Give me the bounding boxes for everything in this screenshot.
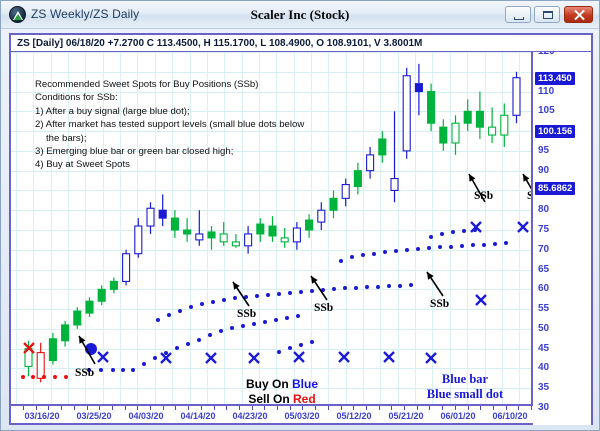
candlestick [306,214,313,238]
resistance-dot [42,375,46,379]
candlestick [452,115,459,155]
support-dot [111,368,115,372]
candlestick [476,92,483,139]
candlestick [49,333,56,365]
candle-body [220,234,227,242]
price-axis-label: 60 [538,283,549,294]
candle-body [86,301,93,313]
support-dot [383,250,387,254]
candlestick [184,218,191,242]
support-dot [222,298,226,302]
date-tick [48,406,49,410]
candle-body [281,238,288,242]
date-tick [366,406,367,410]
candlestick [318,202,325,230]
date-tick [328,406,329,410]
ssb-callout-arrow [233,282,249,306]
candle-body [123,254,130,282]
candle-body [367,155,374,171]
price-axis-label: 75 [538,224,549,235]
ssb-annotation-label: SSb [75,367,94,379]
notes-item-3: the bars); [35,132,304,145]
candle-body [452,123,459,143]
support-dot [200,302,204,306]
annotation-notes: Recommended Sweet Spots for Buy Position… [35,78,304,172]
date-tick [315,406,316,410]
date-tick [404,406,405,410]
signal-note-block: Blue bar Blue small dot & Blue X Confirm… [379,372,533,408]
support-dot [416,247,420,251]
date-tick [201,406,202,410]
candle-body [135,226,142,254]
support-dot [409,283,413,287]
support-dot [398,284,402,288]
support-dot [354,286,358,290]
date-tick [480,406,481,410]
candle-body [49,339,56,361]
candlestick [110,277,117,293]
candle-body [171,218,178,230]
candlestick [123,250,130,286]
notes-subtitle: Conditions for SSb: [35,91,304,104]
support-dot [153,356,157,360]
date-tick [468,406,469,410]
support-dot [451,230,455,234]
support-dot [164,351,168,355]
support-dot [440,232,444,236]
date-tick [455,406,456,410]
date-tick [252,406,253,410]
date-axis-label: 03/25/20 [76,411,111,421]
ssb-annotation-label: SSb [237,308,256,320]
support-dot [131,368,135,372]
candlestick [232,234,239,248]
support-dot [189,305,193,309]
chart-plot-area[interactable]: Recommended Sweet Spots for Buy Position… [11,52,533,408]
date-tick [379,406,380,410]
candlestick [391,111,398,202]
support-dot [121,368,125,372]
notes-title: Recommended Sweet Spots for Buy Position… [35,78,304,91]
support-dot [462,229,466,233]
maximize-button[interactable] [534,6,560,23]
buy-confirm-x-marker [339,352,349,362]
support-dot [277,292,281,296]
date-tick [226,406,227,410]
date-tick [99,406,100,410]
ssb-annotation-label: SSb [474,190,493,202]
date-axis-label: 05/12/20 [336,411,371,421]
date-tick [137,406,138,410]
candle-body [110,281,117,289]
support-dot [493,242,497,246]
notes-item-4: 3) Emerging blue bar or green bar closed… [35,145,304,158]
price-axis-label: 35 [538,382,549,393]
support-dot [274,318,278,322]
price-axis-label: 45 [538,343,549,354]
signal-note-line-1: Blue bar [379,372,533,387]
buy-confirm-x-marker [476,295,486,305]
date-tick [239,406,240,410]
support-dot [387,284,391,288]
support-dot [482,243,486,247]
support-dot [438,245,442,249]
date-tick [150,406,151,410]
candlestick [135,218,142,258]
support-dot [339,259,343,263]
support-dot [219,329,223,333]
support-dot [142,362,146,366]
support-dot [99,368,103,372]
candlestick [501,103,508,147]
candlestick [220,222,227,246]
date-axis-label: 06/01/20 [440,411,475,421]
price-axis-label: 30 [538,402,549,413]
support-dot [376,285,380,289]
price-axis-label: 40 [538,362,549,373]
document-title: ZS Weekly/ZS Daily [31,7,139,21]
candlestick [74,307,81,329]
ssb-callout-arrow [311,276,327,300]
price-axis-label: 70 [538,244,549,255]
support-dot [299,343,303,347]
candlestick [330,190,337,218]
candle-body [257,224,264,234]
candle-body [464,111,471,123]
date-tick [23,406,24,410]
support-dot [277,350,281,354]
signal-note-line-2: Blue small dot [379,387,533,402]
ablesys-logo-icon [9,6,26,23]
price-axis-label: 80 [538,204,549,215]
support-dot [208,333,212,337]
ssb-annotation-label: SSb [314,302,333,314]
date-axis[interactable]: 03/16/2003/25/2004/03/2004/14/2004/23/20… [11,404,533,423]
candle-body [232,242,239,246]
support-dot [175,346,179,350]
date-tick [36,406,37,410]
support-dot [361,253,365,257]
support-dot [230,326,234,330]
candlestick [403,68,410,159]
date-tick [531,406,532,410]
candle-body [489,127,496,135]
support-dot [288,291,292,295]
candlestick [98,285,105,305]
candlestick [171,210,178,238]
candlestick [208,226,215,250]
candlestick [159,194,166,226]
candle-body [37,353,44,379]
candlestick [257,218,264,242]
date-tick [214,406,215,410]
date-tick [353,406,354,410]
candle-body [391,179,398,191]
support-dot [255,294,259,298]
price-axis-highlight-label: 85.6862 [535,182,575,195]
support-dot [332,287,336,291]
candle-body [62,325,69,341]
buy-confirm-x-marker [426,353,436,363]
support-dot [394,249,398,253]
chart-window: ZS [Daily] 06/18/20 +7.2700 C 113.4500, … [9,33,593,425]
date-tick [125,406,126,410]
support-dot [178,309,182,313]
minimize-icon [514,17,524,20]
candlestick [415,64,422,115]
price-axis-highlight-label: 100.156 [535,125,575,138]
date-tick [417,406,418,410]
candle-body [318,210,325,222]
support-dot [167,313,171,317]
logo-triangle-inner [14,14,22,20]
support-dot [156,318,160,322]
support-dot [504,241,508,245]
resistance-dot [21,375,25,379]
candle-body [342,185,349,199]
resistance-dot [64,375,68,379]
candle-body [159,210,166,218]
support-dot [266,293,270,297]
date-axis-label: 04/23/20 [232,411,267,421]
price-axis-label: 95 [538,145,549,156]
price-axis-highlight-label: 113.450 [535,72,575,85]
candle-body [415,84,422,92]
support-dot [460,244,464,248]
buy-confirm-x-marker [98,352,108,362]
candle-body [98,289,105,301]
tagline-line-1: Buy On Blue [207,377,357,392]
support-dot [288,346,292,350]
candle-body [184,230,191,234]
candle-body [196,234,203,240]
support-dot [197,338,201,342]
support-dot [241,324,245,328]
price-axis-label: 50 [538,323,549,334]
buy-confirm-x-marker [249,353,259,363]
support-dot [252,322,256,326]
support-dot [186,342,190,346]
candle-body [354,171,361,187]
minimize-button[interactable] [505,6,531,23]
close-button[interactable] [564,6,593,23]
candlestick [245,226,252,254]
candlestick [367,147,374,179]
date-tick [518,406,519,410]
candlestick [440,119,447,151]
candlestick [281,228,288,248]
support-dot [285,316,289,320]
date-tick [264,406,265,410]
date-tick [429,406,430,410]
support-dot [365,285,369,289]
candle-body [428,92,435,124]
date-tick [74,406,75,410]
support-dot [350,255,354,259]
support-dot [211,300,215,304]
candlestick [342,179,349,207]
date-tick [442,406,443,410]
notes-item-1: 1) After a buy signal (large blue dot); [35,105,304,118]
application-window: ZS Weekly/ZS Daily Scaler Inc (Stock) ZS… [0,0,600,431]
date-tick [188,406,189,410]
candle-body [74,311,81,325]
resistance-dot [31,375,35,379]
candle-body [513,78,520,116]
candle-body [293,228,300,242]
candlestick [62,321,69,347]
candlestick [428,84,435,131]
support-dot [449,245,453,249]
date-axis-label: 05/03/20 [284,411,319,421]
buy-confirm-x-marker [206,353,216,363]
resistance-dot [53,375,57,379]
maximize-icon [543,11,553,19]
buy-confirm-x-marker [384,352,394,362]
date-tick [277,406,278,410]
support-dot [233,296,237,300]
date-tick [175,406,176,410]
support-dot [299,290,303,294]
date-tick [290,406,291,410]
buy-confirm-x-marker [518,222,528,232]
candlestick [489,107,496,143]
date-tick [163,406,164,410]
notes-item-5: 4) Buy at Sweet Spots [35,158,304,171]
candlestick [293,222,300,250]
price-axis-label: 110 [538,86,554,97]
price-axis-label: 105 [538,105,555,116]
date-tick [506,406,507,410]
title-bar: ZS Weekly/ZS Daily Scaler Inc (Stock) [1,1,599,29]
candlestick [379,131,386,163]
candle-body [245,234,252,246]
candle-body [147,208,154,226]
buy-confirm-x-marker [294,352,304,362]
candlestick [269,216,276,242]
candle-body [330,198,337,210]
support-dot [405,248,409,252]
date-tick [61,406,62,410]
date-tick [112,406,113,410]
candle-body [306,220,313,230]
support-dot [372,252,376,256]
date-tick [302,406,303,410]
candle-body [501,115,508,135]
date-tick [341,406,342,410]
ssb-callout-arrow [427,272,443,296]
candlestick [513,72,520,123]
candlestick [354,163,361,195]
date-axis-label: 04/14/20 [180,411,215,421]
support-dot [296,314,300,318]
price-axis-label: 90 [538,165,549,176]
candlestick [464,99,471,131]
candle-body [403,76,410,151]
support-dot [263,320,267,324]
date-axis-label: 05/21/20 [388,411,423,421]
support-dot [343,286,347,290]
candle-body [269,226,276,236]
support-dot [471,243,475,247]
support-dot [310,289,314,293]
quote-header: ZS [Daily] 06/18/20 +7.2700 C 113.4500, … [11,35,591,52]
candlestick [86,297,93,317]
date-axis-label: 06/10/20 [492,411,527,421]
candle-body [208,232,215,238]
date-tick [87,406,88,410]
date-tick [493,406,494,410]
notes-item-2: 2) After market has tested support level… [35,118,304,131]
price-axis-label: 55 [538,303,549,314]
candlestick [147,202,154,234]
candle-body [379,139,386,155]
support-dot [429,235,433,239]
price-axis-label: 65 [538,264,549,275]
candle-body [476,111,483,127]
support-dot [310,340,314,344]
support-dot [427,246,431,250]
date-axis-label: 04/03/20 [128,411,163,421]
date-tick [391,406,392,410]
price-axis[interactable]: 12011010595908075706560555045403530113.4… [531,52,591,425]
candlestick [196,210,203,246]
date-axis-label: 03/16/20 [24,411,59,421]
candle-body [440,127,447,143]
ssb-annotation-label: SSb [430,298,449,310]
